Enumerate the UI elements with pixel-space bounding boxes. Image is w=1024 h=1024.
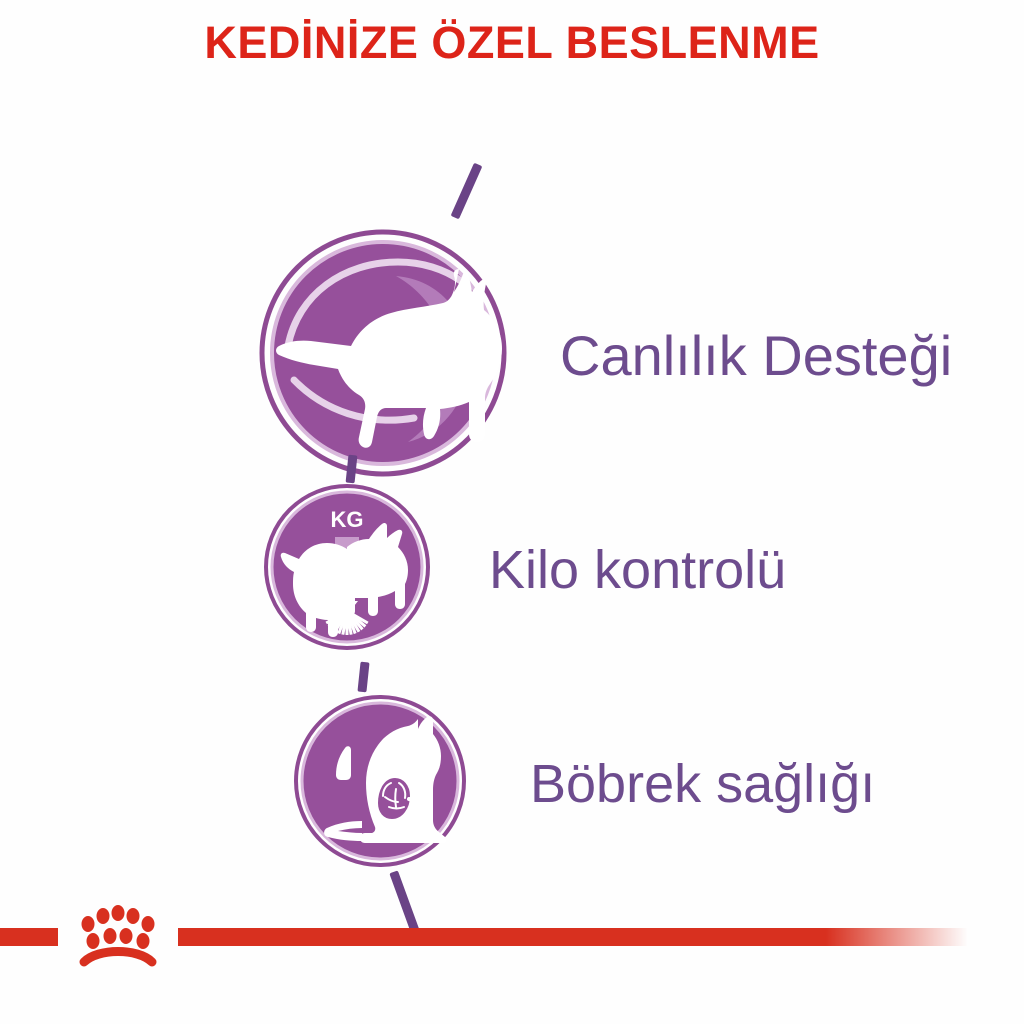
cat-vitality-icon [258, 228, 508, 483]
feature-row-vitality[interactable]: Canlılık Desteği [258, 228, 952, 483]
feature-label-kidney-health: Böbrek sağlığı [530, 757, 875, 811]
kg-badge-text: KG [331, 507, 364, 532]
feature-label-vitality: Canlılık Desteği [560, 328, 952, 384]
cat-kidney-health-icon-svg [292, 693, 468, 869]
cat-kidney-health-icon [292, 693, 468, 874]
brand-bar-right-segment [178, 928, 968, 946]
feature-label-weight-control: Kilo kontrolü [489, 543, 786, 597]
poster-canvas: KEDİNİZE ÖZEL BESLENME Canlılı [0, 0, 1024, 1024]
cat-weight-control-icon-svg: KG [263, 483, 431, 651]
dash-between-second-and-third [357, 662, 369, 693]
brand-footer-bar [0, 928, 1024, 946]
royal-canin-crown-logo [58, 894, 178, 982]
cat-weight-control-icon: KG [263, 483, 431, 656]
dash-below-third-icon [389, 870, 419, 933]
feature-row-kidney-health[interactable]: Böbrek sağlığı [292, 693, 875, 874]
dash-above-first-icon [451, 163, 483, 220]
brand-bar-left-segment [0, 928, 58, 946]
page-title: KEDİNİZE ÖZEL BESLENME [0, 18, 1024, 68]
feature-row-weight-control[interactable]: KG [263, 483, 786, 656]
cat-vitality-icon-svg [258, 228, 508, 478]
